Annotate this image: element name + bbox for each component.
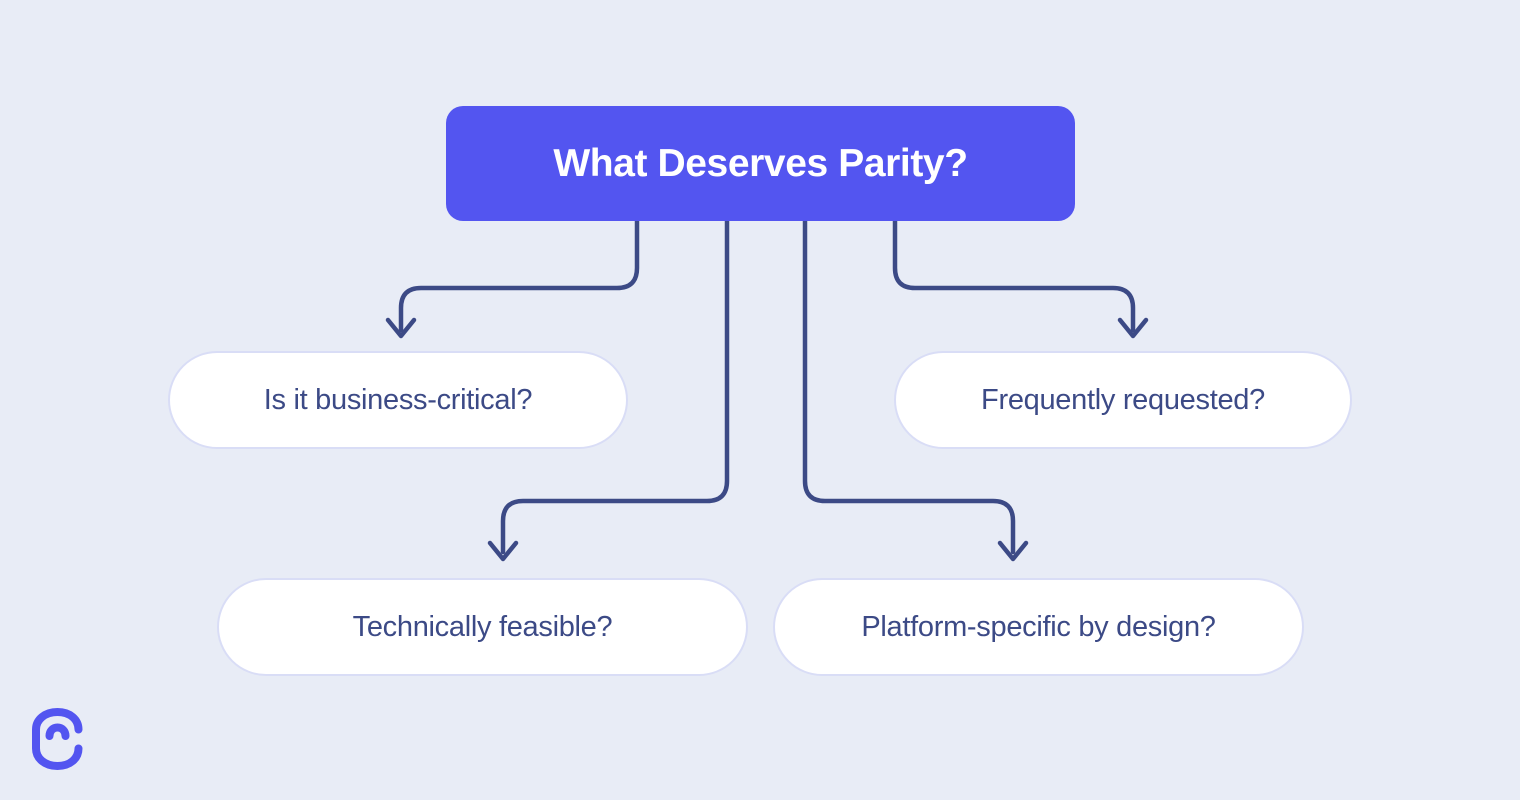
node-technically-feasible-label: Technically feasible? <box>353 613 613 642</box>
node-technically-feasible[interactable]: Technically feasible? <box>217 578 748 676</box>
diagram-canvas: What Deserves Parity? Is it business-cri… <box>0 0 1520 800</box>
arrowhead-business-critical <box>388 320 414 336</box>
root-node-label: What Deserves Parity? <box>553 144 967 183</box>
arrowhead-technically-feasible <box>490 543 516 559</box>
node-frequently-requested-label: Frequently requested? <box>981 386 1265 415</box>
node-platform-specific[interactable]: Platform-specific by design? <box>773 578 1304 676</box>
arrowhead-platform-specific <box>1000 543 1026 559</box>
node-business-critical[interactable]: Is it business-critical? <box>168 351 628 449</box>
brand-logo-icon <box>28 708 86 770</box>
root-node[interactable]: What Deserves Parity? <box>446 106 1075 221</box>
arrowhead-frequently-requested <box>1120 320 1146 336</box>
edge-root-to-business-critical <box>401 221 637 330</box>
node-business-critical-label: Is it business-critical? <box>264 386 532 415</box>
node-platform-specific-label: Platform-specific by design? <box>861 613 1215 642</box>
edge-root-to-frequently-requested <box>895 221 1133 330</box>
node-frequently-requested[interactable]: Frequently requested? <box>894 351 1352 449</box>
